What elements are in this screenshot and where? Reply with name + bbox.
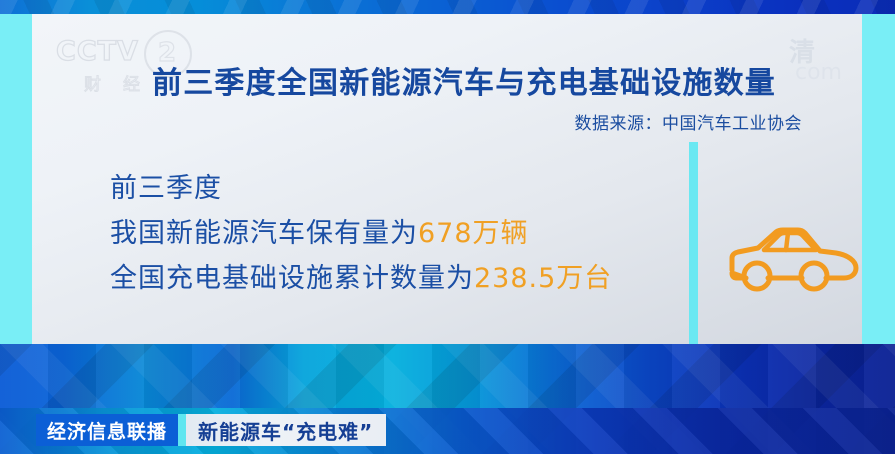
cctv-channel-subtitle: 财经 xyxy=(84,70,162,95)
ticker-topic-headline: 新能源车“充电难” xyxy=(186,414,386,446)
left-cyan-band xyxy=(0,14,32,344)
site-watermark: 清 com xyxy=(789,40,842,84)
charging-infra-value: 238.5万台 xyxy=(474,263,612,294)
cctv-brand-text: CCTV xyxy=(56,36,139,67)
site-watermark-en: com xyxy=(795,62,842,84)
site-watermark-cn: 清 xyxy=(789,40,842,66)
page-title: 前三季度全国新能源汽车与充电基础设施数量 xyxy=(152,58,776,102)
vertical-divider xyxy=(689,142,698,355)
vehicle-stock-label: 我国新能源汽车保有量为 xyxy=(110,218,418,249)
bottom-graphic-area: 经济信息联播 新能源车“充电难” xyxy=(0,344,895,454)
broadcast-graphic-screen: CCTV 2 财经 清 com 前三季度全国新能源汽车与充电基础设施数量 数据来… xyxy=(0,0,895,454)
car-icon xyxy=(724,220,864,298)
statistics-block: 前三季度 我国新能源汽车保有量为678万辆 全国充电基础设施累计数量为238.5… xyxy=(110,166,612,301)
body-line-period: 前三季度 xyxy=(110,166,612,211)
right-cyan-band xyxy=(862,14,895,344)
data-source-label: 数据来源：中国汽车工业协会 xyxy=(575,109,803,134)
ticker-program-name: 经济信息联播 xyxy=(36,414,178,446)
ticker-accent-bar xyxy=(178,414,186,446)
top-decorative-strip xyxy=(0,0,895,14)
content-panel: CCTV 2 财经 清 com 前三季度全国新能源汽车与充电基础设施数量 数据来… xyxy=(32,14,862,344)
vehicle-stock-value: 678万辆 xyxy=(418,218,529,249)
charging-infra-label: 全国充电基础设施累计数量为 xyxy=(110,263,474,294)
lower-third-ticker: 经济信息联播 新能源车“充电难” xyxy=(36,414,386,446)
body-line-vehicle-stock: 我国新能源汽车保有量为678万辆 xyxy=(110,211,612,256)
body-line-charging-infra: 全国充电基础设施累计数量为238.5万台 xyxy=(110,256,612,301)
